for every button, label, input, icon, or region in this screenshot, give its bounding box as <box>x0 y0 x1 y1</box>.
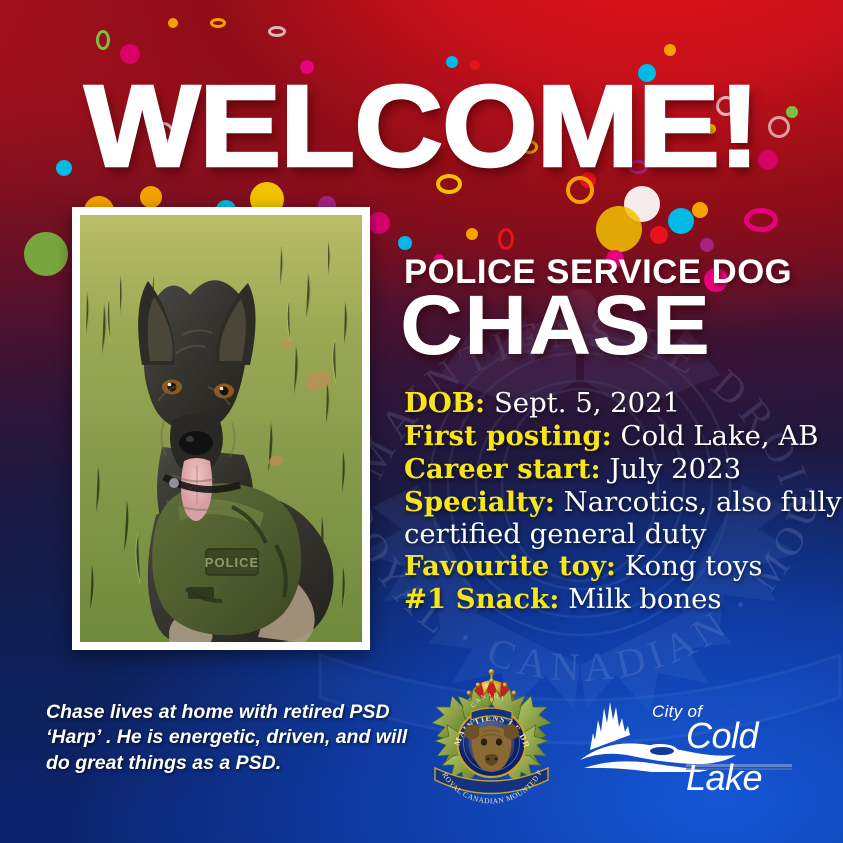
rcmp-crest-logo: MAINTIENS LE DROIT CANADA <box>429 664 554 804</box>
detail-row: #1 Snack: Milk bones <box>404 584 842 616</box>
detail-row: DOB: Sept. 5, 2021 <box>404 388 842 420</box>
dog-photo: POLICE <box>80 215 362 642</box>
dog-name-title: CHASE <box>400 285 843 366</box>
dog-photo-illustration: POLICE <box>80 215 362 642</box>
police-patch-text: POLICE <box>205 555 259 570</box>
detail-label: DOB: <box>404 387 485 419</box>
detail-label: Career start: <box>404 453 601 485</box>
poster-canvas: MAINTIENS LE DROIT ROYAL · CANADIAN · MO… <box>0 0 843 843</box>
detail-label: #1 Snack: <box>404 583 559 615</box>
detail-value: Kong toys <box>625 550 763 582</box>
detail-label: First posting: <box>404 420 612 452</box>
page-title: WELCOME! <box>0 72 843 181</box>
detail-value: Cold Lake, AB <box>621 420 819 452</box>
detail-row: Specialty: Narcotics, also fully certifi… <box>404 487 842 551</box>
caption-text: Chase lives at home with retired PSD ‘Ha… <box>46 700 416 776</box>
cold-lake-label: Cold Lake <box>686 715 800 799</box>
detail-row: First posting: Cold Lake, AB <box>404 421 842 453</box>
detail-row: Career start: July 2023 <box>404 454 842 486</box>
dog-photo-frame: POLICE <box>72 207 370 650</box>
detail-value: Sept. 5, 2021 <box>494 387 680 419</box>
detail-label: Favourite toy: <box>404 550 616 582</box>
detail-value: Milk bones <box>568 583 721 615</box>
detail-row: Favourite toy: Kong toys <box>404 551 842 583</box>
dog-details-list: DOB: Sept. 5, 2021 First posting: Cold L… <box>404 388 842 617</box>
detail-value: July 2023 <box>609 453 741 485</box>
city-of-cold-lake-logo: City of Cold Lake <box>568 700 800 772</box>
detail-label: Specialty: <box>404 486 555 518</box>
